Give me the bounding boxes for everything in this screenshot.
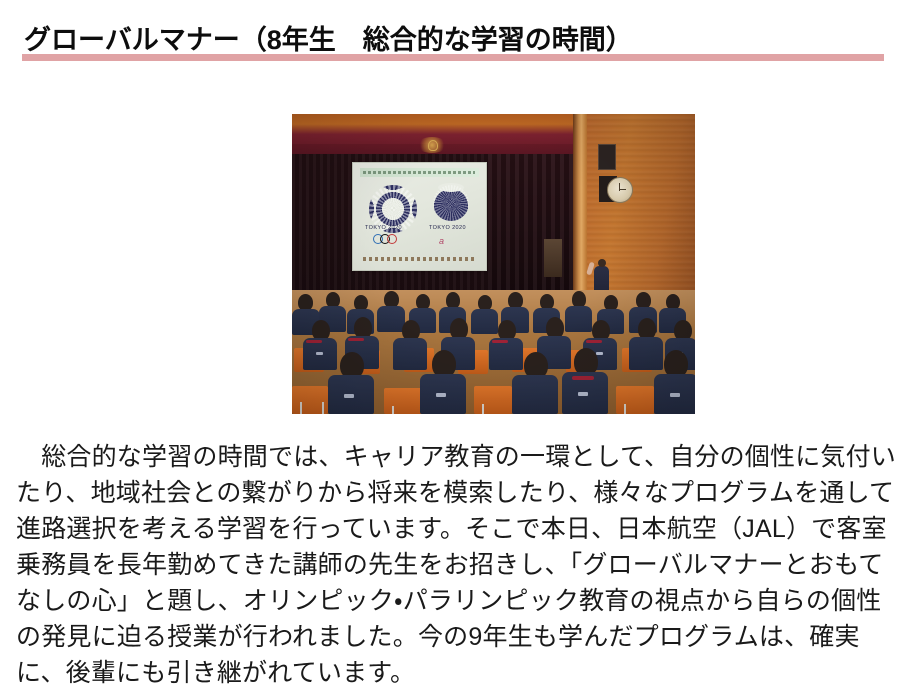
olympic-rings-icon [373, 234, 403, 242]
wall-corner [573, 114, 587, 296]
article-photo: TOKYO 2020 TOKYO 2020 a [292, 114, 695, 414]
slide-footer-text [363, 257, 476, 261]
projection-screen: TOKYO 2020 TOKYO 2020 a [352, 162, 487, 271]
article-paragraph: 総合的な学習の時間では、キャリア教育の一環として、自分の個性に気付いたり、地域社… [16, 439, 896, 691]
audience-area [292, 290, 695, 414]
paralympic-label: TOKYO 2020 [429, 225, 466, 231]
wall-clock-icon [607, 177, 633, 203]
speaker-icon [598, 144, 616, 170]
podium [544, 239, 562, 277]
title-divider [22, 54, 884, 61]
agitos-icon: a [439, 236, 444, 246]
olympic-label: TOKYO 2020 [365, 225, 402, 231]
paralympic-emblem-icon [433, 185, 469, 221]
school-crest-icon [417, 137, 447, 153]
slide-header [360, 168, 479, 177]
photo-scene: TOKYO 2020 TOKYO 2020 a [292, 114, 695, 414]
